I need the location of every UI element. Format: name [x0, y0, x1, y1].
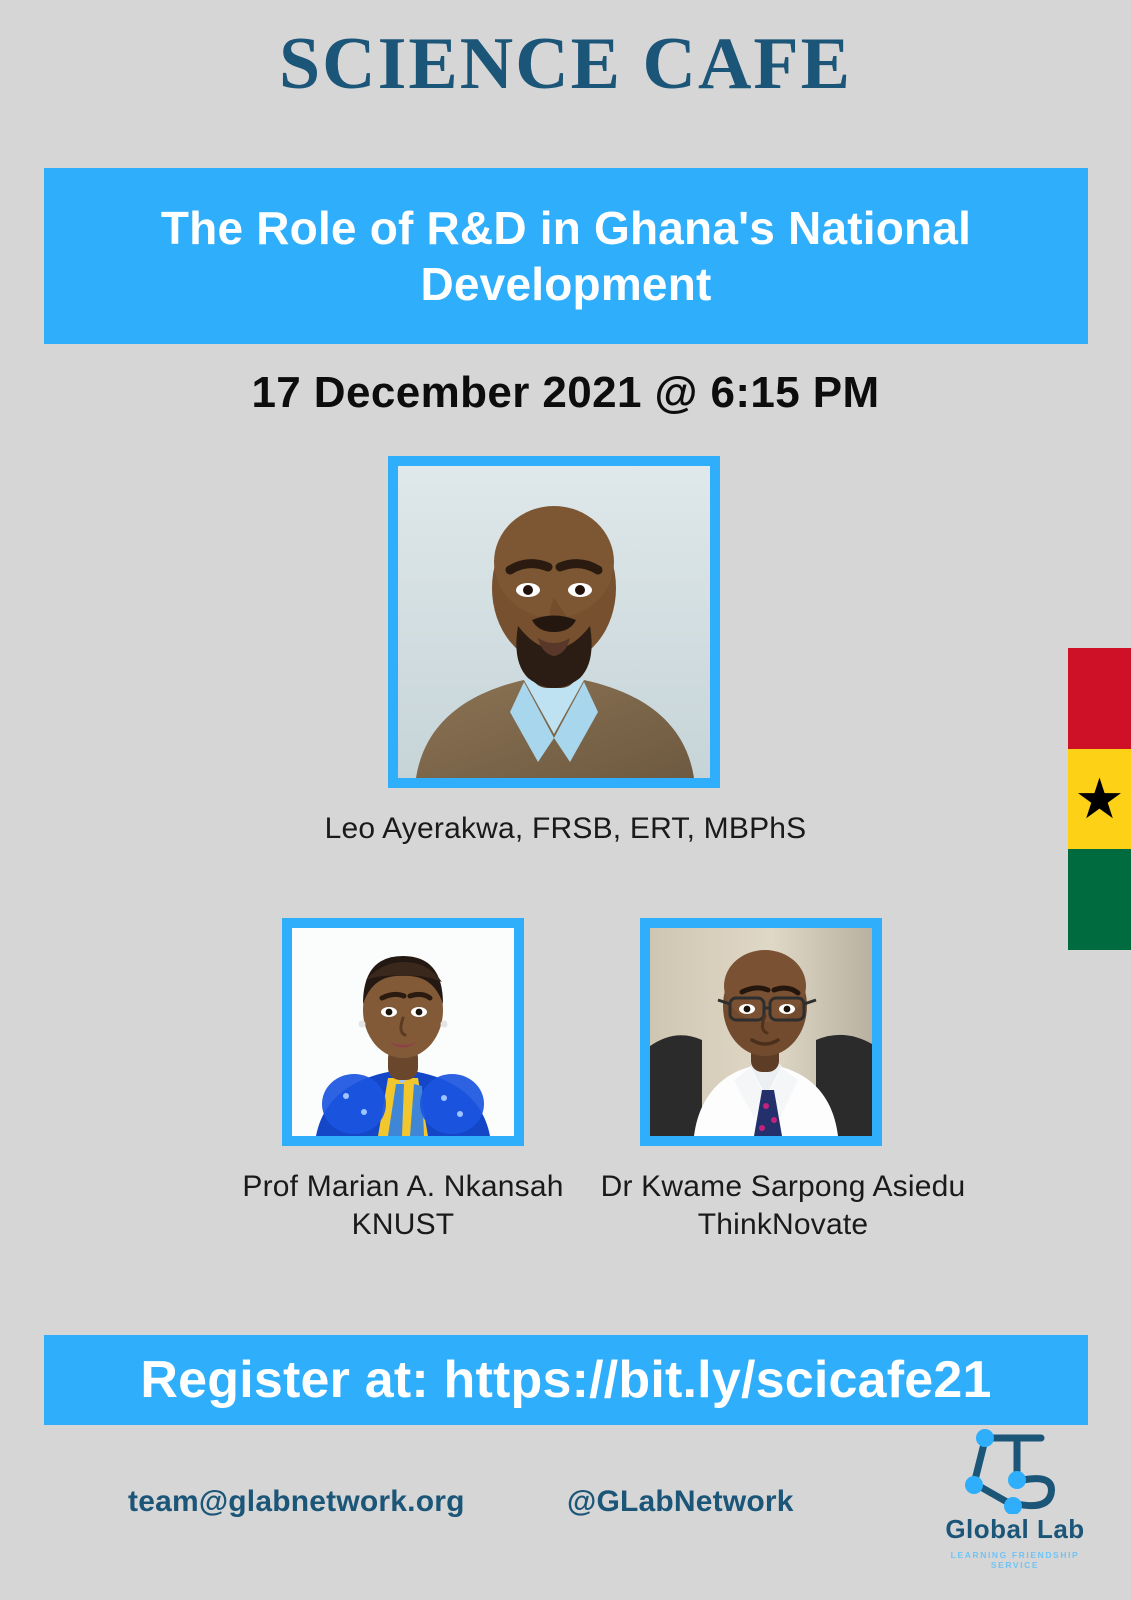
- flask-network-icon: [953, 1428, 1077, 1514]
- event-datetime: 17 December 2021 @ 6:15 PM: [0, 368, 1131, 418]
- speaker-name-1: Prof Marian A. Nkansah: [190, 1168, 616, 1206]
- speaker-name-2: Dr Kwame Sarpong Asiedu: [570, 1168, 996, 1206]
- black-star-icon: ★: [1073, 772, 1127, 826]
- speaker-affiliation-2: ThinkNovate: [570, 1206, 996, 1244]
- register-banner[interactable]: Register at: https://bit.ly/scicafe21: [44, 1335, 1088, 1425]
- speaker-caption-main: Leo Ayerakwa, FRSB, ERT, MBPhS: [0, 810, 1131, 848]
- page-title: SCIENCE CAFE: [0, 26, 1131, 104]
- speaker-caption-2: Dr Kwame Sarpong Asiedu ThinkNovate: [570, 1168, 996, 1245]
- speaker-photo-frame-1: [282, 918, 524, 1146]
- avatar-panel-2: [650, 928, 872, 1136]
- social-handle[interactable]: @GLabNetwork: [567, 1485, 794, 1519]
- portrait-leo-ayerakwa-image: [398, 466, 710, 778]
- logo-wordmark: Global Lab: [925, 1514, 1105, 1545]
- topic-title: The Role of R&D in Ghana's National Deve…: [74, 200, 1058, 312]
- portrait-kwame-sarpong-asiedu-image: [650, 928, 872, 1136]
- portrait-marian-nkansah-image: [292, 928, 514, 1136]
- flag-band-green: [1068, 849, 1131, 950]
- ghana-flag-icon: ★: [1068, 648, 1131, 950]
- avatar-panel-1: [292, 928, 514, 1136]
- poster-canvas: SCIENCE CAFE The Role of R&D in Ghana's …: [0, 0, 1131, 1600]
- register-link-text[interactable]: Register at: https://bit.ly/scicafe21: [140, 1350, 991, 1410]
- speaker-caption-1: Prof Marian A. Nkansah KNUST: [190, 1168, 616, 1245]
- speaker-affiliation-1: KNUST: [190, 1206, 616, 1244]
- speaker-photo-frame-main: [388, 456, 720, 788]
- speaker-photo-frame-2: [640, 918, 882, 1146]
- global-lab-logo: Global Lab LEARNING FRIENDSHIP SERVICE: [925, 1428, 1105, 1578]
- topic-banner: The Role of R&D in Ghana's National Deve…: [44, 168, 1088, 344]
- contact-email[interactable]: team@glabnetwork.org: [128, 1485, 465, 1519]
- logo-tagline: LEARNING FRIENDSHIP SERVICE: [925, 1550, 1105, 1570]
- flag-band-red: [1068, 648, 1131, 749]
- avatar-main: [398, 466, 710, 778]
